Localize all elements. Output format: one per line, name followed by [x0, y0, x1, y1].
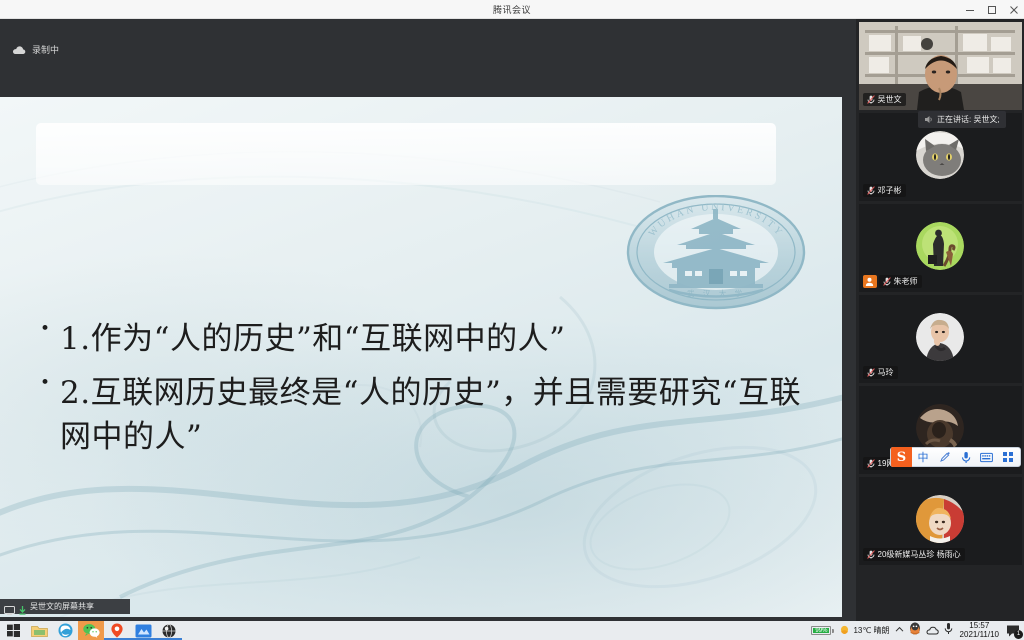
recording-bar: 录制中 — [0, 19, 855, 69]
windows-taskbar[interactable]: 99% 13℃ 晴朗 15:57 2021/11/10 1 — [0, 621, 1024, 640]
meeting-icon[interactable] — [130, 621, 156, 640]
wuhan-university-logo-icon: WUHAN UNIVERSITY 武 汉 大 学 — [625, 195, 807, 310]
battery-percent: 99% — [813, 628, 829, 634]
mic-muted-icon — [867, 182, 875, 200]
participant-name: 邓子彬 — [878, 185, 902, 196]
avatar — [916, 404, 964, 452]
mic-muted-icon — [867, 546, 875, 564]
participant-name: 吴世文 — [878, 94, 902, 105]
meeting-window-body: 录制中 — [0, 19, 1024, 621]
bullet-dot-icon: • — [40, 317, 50, 343]
speaker-icon — [924, 111, 933, 129]
mic-muted-icon — [883, 273, 891, 291]
chevron-up-icon[interactable] — [895, 626, 904, 635]
window-titlebar: 腾讯会议 — [0, 0, 1024, 19]
edge-icon[interactable] — [52, 621, 78, 640]
avatar — [916, 222, 964, 270]
wechat-icon[interactable] — [78, 621, 104, 640]
notification-count: 1 — [1014, 630, 1023, 639]
microphone-icon[interactable] — [944, 622, 953, 640]
shared-screen-slide[interactable]: WUHAN UNIVERSITY 武 汉 大 学 • 1.作为“人的历史”和“互… — [0, 97, 842, 617]
bullet-dot-icon: • — [40, 371, 50, 397]
cloud-sync-icon[interactable] — [926, 622, 939, 640]
avatar — [916, 495, 964, 543]
window-controls — [964, 0, 1020, 19]
screen-share-badge: 吴世文的屏幕共享 — [0, 599, 130, 614]
avatar — [916, 313, 964, 361]
logo-cn-text: 武 汉 大 学 — [687, 288, 745, 298]
participant-rail[interactable]: 吴世文 正在讲话: 吴世文; — [856, 19, 1024, 621]
location-pin-icon[interactable] — [104, 621, 130, 640]
participant-nametag: 邓子彬 — [863, 184, 906, 197]
recording-label: 录制中 — [32, 43, 59, 56]
slide-bullet-list: • 1.作为“人的历史”和“互联网中的人” • 2.互联网历史最终是“人的历史”… — [40, 317, 820, 469]
sun-icon — [839, 622, 850, 640]
participant-nametag: 20级新媒马丛珍 杨雨心 — [863, 548, 965, 561]
mic-muted-icon — [867, 364, 875, 382]
participant-tile[interactable]: 20级新媒马丛珍 杨雨心 — [859, 477, 1022, 565]
weather-text: 13℃ 晴朗 — [853, 625, 889, 636]
slide-bullet-text: 1.作为“人的历史”和“互联网中的人” — [60, 317, 565, 361]
slide-bullet-item: • 2.互联网历史最终是“人的历史”，并且需要研究“互联网中的人” — [40, 371, 820, 459]
clock-date: 2021/11/10 — [960, 631, 999, 639]
minimize-icon[interactable] — [964, 4, 976, 16]
close-icon[interactable] — [1008, 4, 1020, 16]
participant-nametag: 吴世文 — [863, 93, 906, 106]
start-button[interactable] — [0, 621, 26, 640]
recording-indicator[interactable]: 录制中 — [12, 43, 59, 56]
sogou-ime-toolbar[interactable]: S 中 — [890, 447, 1021, 467]
participant-name: 马玲 — [878, 367, 894, 378]
participant-tile[interactable]: 吴世文 — [859, 22, 1022, 110]
notification-icon[interactable]: 1 — [1006, 624, 1022, 638]
screen-share-icon — [4, 602, 15, 611]
taskbar-clock[interactable]: 15:57 2021/11/10 — [958, 622, 1001, 639]
apps-grid-icon[interactable] — [997, 448, 1018, 466]
pen-icon[interactable] — [934, 448, 955, 466]
speaking-tooltip: 正在讲话: 吴世文; — [918, 111, 1006, 128]
slide-bullet-item: • 1.作为“人的历史”和“互联网中的人” — [40, 317, 820, 361]
system-tray[interactable]: 99% 13℃ 晴朗 15:57 2021/11/10 1 — [811, 621, 1024, 640]
qq-icon[interactable] — [909, 622, 921, 640]
download-arrow-icon — [19, 602, 26, 611]
mic-muted-icon — [867, 91, 875, 109]
cloud-icon — [12, 45, 26, 55]
microphone-icon[interactable] — [955, 448, 976, 466]
avatar — [916, 131, 964, 179]
window-title: 腾讯会议 — [493, 3, 531, 16]
keyboard-icon[interactable] — [976, 448, 997, 466]
battery-icon[interactable]: 99% — [811, 626, 834, 635]
speaking-tooltip-text: 正在讲话: 吴世文; — [937, 114, 1000, 125]
mic-muted-icon — [867, 455, 875, 473]
slide-bullet-text: 2.互联网历史最终是“人的历史”，并且需要研究“互联网中的人” — [60, 371, 820, 459]
participant-nametag: 朱老师 — [879, 275, 922, 288]
screen-share-label: 吴世文的屏幕共享 — [30, 601, 94, 612]
participant-name: 20级新媒马丛珍 杨雨心 — [878, 549, 961, 560]
sogou-logo-icon[interactable]: S — [891, 447, 912, 467]
slide-title-box — [36, 123, 776, 185]
participant-tile[interactable]: 马玲 — [859, 295, 1022, 383]
weather-widget[interactable]: 13℃ 晴朗 — [839, 622, 889, 640]
maximize-icon[interactable] — [986, 4, 998, 16]
participant-name: 朱老师 — [894, 276, 918, 287]
host-badge — [863, 275, 877, 288]
ime-mode-toggle[interactable]: 中 — [912, 448, 934, 466]
file-explorer-icon[interactable] — [26, 621, 52, 640]
globe-icon[interactable] — [156, 621, 182, 640]
participant-tile[interactable]: 朱老师 — [859, 204, 1022, 292]
participant-nametag: 马玲 — [863, 366, 898, 379]
